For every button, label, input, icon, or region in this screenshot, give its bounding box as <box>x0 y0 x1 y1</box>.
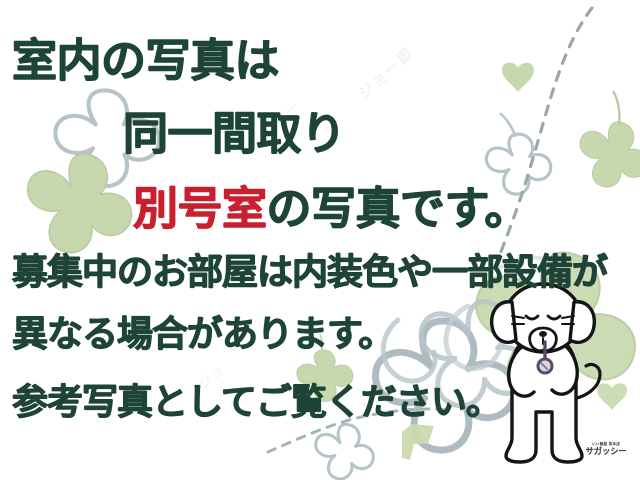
notice-line-5: 異なる場合があります。 <box>12 305 393 357</box>
notice-line-1: 室内の写真は <box>12 24 279 89</box>
mascot-name: サガッシー <box>578 448 634 457</box>
notice-line-3-rest: の写真です。 <box>267 182 530 235</box>
notice-text-block: 室内の写真は 同一間取り 別号室の写真です。 募集中のお部屋は内装色や一部設備が… <box>0 0 640 480</box>
notice-line-3: 別号室の写真です。 <box>133 172 529 237</box>
notice-line-6: 参考写真としてご覧ください。 <box>12 373 501 425</box>
notice-line-3-highlight: 別号室 <box>133 182 267 235</box>
mascot-label: いい部屋 見本店 サガッシー <box>578 443 634 457</box>
notice-line-2: 同一間取り <box>123 97 346 162</box>
notice-line-4: 募集中のお部屋は内装色や一部設備が <box>12 243 607 295</box>
notice-banner: ジョー即 ジョー ジョ 室内の写真は 同一間取り 別号室の写真です。 募集中のお… <box>0 0 640 480</box>
